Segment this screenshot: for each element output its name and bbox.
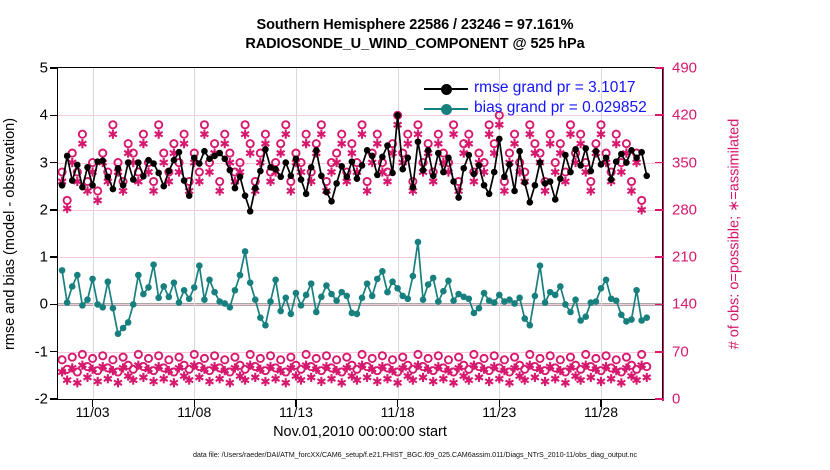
possible-obs-marker	[450, 121, 457, 128]
series-point	[389, 170, 396, 177]
series-point	[460, 165, 467, 172]
series-point	[298, 176, 305, 183]
y-axis-left-tick-label: -1	[8, 343, 48, 360]
possible-obs-marker	[338, 131, 345, 138]
series-point	[237, 272, 244, 279]
x-axis-tick-label: 11/28	[584, 404, 618, 420]
y-axis-right-tick	[655, 304, 663, 306]
y-axis-right-tick	[655, 209, 663, 211]
series-point	[308, 164, 315, 171]
series-point	[425, 281, 432, 288]
assimilated-marker	[317, 130, 325, 139]
possible-obs-marker	[491, 352, 498, 359]
assimilated-marker	[505, 378, 513, 387]
assimilated-marker	[206, 167, 214, 176]
series-point	[511, 300, 518, 307]
series-point	[364, 147, 371, 154]
series-point	[430, 173, 437, 180]
series-point	[313, 309, 320, 316]
assimilated-marker	[195, 373, 203, 382]
possible-obs-marker	[536, 355, 543, 362]
assimilated-marker	[63, 375, 71, 384]
possible-obs-marker	[597, 121, 604, 128]
series-point	[282, 159, 289, 166]
y-axis-left-tick	[50, 115, 57, 116]
series-point	[369, 293, 376, 300]
y-axis-right-tick-label: 210	[672, 249, 732, 266]
y-axis-right-tick-label: 420	[672, 107, 732, 124]
possible-obs-marker	[445, 356, 452, 363]
assimilated-marker	[282, 130, 290, 139]
possible-obs-marker	[414, 351, 421, 358]
possible-obs-marker	[160, 150, 167, 157]
series-point	[435, 298, 442, 305]
possible-obs-marker	[79, 351, 86, 358]
series-point	[623, 159, 630, 166]
series-point	[176, 149, 183, 156]
possible-obs-marker	[425, 355, 432, 362]
possible-obs-marker	[638, 197, 645, 204]
possible-obs-marker	[313, 140, 320, 147]
y-axis-left-tick	[50, 256, 57, 257]
possible-obs-marker	[628, 178, 635, 185]
series-point	[318, 294, 325, 301]
series-point	[593, 148, 600, 155]
possible-obs-marker	[221, 131, 228, 138]
assimilated-marker	[216, 374, 224, 383]
possible-obs-marker	[475, 150, 482, 157]
possible-obs-marker	[64, 197, 71, 204]
series-point	[171, 279, 178, 286]
series-point	[227, 304, 234, 311]
possible-obs-marker	[511, 354, 518, 361]
assimilated-marker	[170, 378, 178, 387]
x-axis-tick-label: 11/03	[76, 404, 110, 420]
series-point	[598, 161, 605, 168]
series-point	[471, 171, 478, 178]
series-point	[74, 272, 81, 279]
series-point	[374, 276, 381, 283]
assimilated-marker	[414, 130, 422, 139]
assimilated-marker	[78, 139, 86, 148]
possible-obs-marker	[69, 354, 76, 361]
possible-obs-marker	[486, 121, 493, 128]
possible-obs-marker	[343, 354, 350, 361]
series-point	[206, 277, 213, 284]
possible-obs-marker	[99, 352, 106, 359]
series-point	[288, 173, 295, 180]
series-point	[445, 277, 452, 284]
assimilated-marker	[587, 373, 595, 382]
series-point	[491, 299, 498, 306]
y-axis-left-tick-label: 5	[8, 60, 48, 77]
assimilated-marker	[73, 378, 81, 387]
possible-obs-marker	[211, 352, 218, 359]
series-point	[440, 169, 447, 176]
series-point	[130, 176, 137, 183]
assimilated-marker	[495, 374, 503, 383]
possible-obs-marker	[333, 356, 340, 363]
series-point	[64, 153, 71, 160]
series-point	[140, 291, 147, 298]
assimilated-marker	[328, 374, 336, 383]
series-point	[420, 296, 427, 303]
series-point	[547, 178, 554, 185]
chart-title: Southern Hemisphere 22586 / 23246 = 97.1…	[0, 16, 830, 54]
series-point	[410, 273, 417, 280]
series-point	[257, 168, 264, 175]
assimilated-marker	[150, 377, 158, 386]
series-point	[374, 172, 381, 179]
series-point	[399, 166, 406, 173]
legend-rmse-marker	[441, 84, 452, 95]
series-point	[105, 173, 112, 180]
series-point	[359, 295, 366, 302]
title-line-2: RADIOSONDE_U_WIND_COMPONENT @ 525 hPa	[0, 35, 830, 54]
series-point	[379, 268, 386, 275]
series-point	[125, 159, 132, 166]
series-point	[410, 184, 417, 191]
series-point	[430, 275, 437, 282]
x-axis-title: Nov.01,2010 00:00:00 start	[57, 424, 663, 440]
assimilated-marker	[63, 204, 71, 213]
y-axis-left-tick-label: 1	[8, 249, 48, 266]
series-point	[476, 305, 483, 312]
series-point	[160, 183, 167, 190]
possible-obs-marker	[272, 159, 279, 166]
series-point	[450, 178, 457, 185]
possible-obs-marker	[435, 352, 442, 359]
possible-obs-marker	[567, 354, 574, 361]
series-point	[389, 278, 396, 285]
assimilated-marker	[307, 373, 315, 382]
series-point	[415, 138, 422, 145]
assimilated-marker	[84, 373, 92, 382]
possible-obs-marker	[435, 131, 442, 138]
series-point	[491, 169, 498, 176]
series-point	[166, 168, 173, 175]
assimilated-marker	[363, 186, 371, 195]
possible-obs-marker	[247, 351, 254, 358]
assimilated-marker	[348, 149, 356, 158]
possible-obs-marker	[109, 121, 116, 128]
assimilated-marker	[246, 149, 254, 158]
series-point	[221, 155, 228, 162]
series-point	[257, 314, 264, 321]
series-point	[242, 248, 249, 255]
series-point	[120, 325, 127, 332]
possible-obs-marker	[526, 121, 533, 128]
series-point	[435, 150, 442, 157]
series-point	[455, 194, 462, 201]
possible-obs-marker	[150, 178, 157, 185]
series-point	[89, 276, 96, 283]
series-point	[110, 305, 117, 312]
series-point	[496, 136, 503, 143]
assimilated-marker	[628, 186, 636, 195]
possible-obs-marker	[323, 352, 330, 359]
possible-obs-marker	[89, 355, 96, 362]
possible-obs-marker	[196, 168, 203, 175]
series-point	[247, 279, 254, 286]
assimilated-marker	[587, 186, 595, 195]
assimilated-marker	[261, 377, 269, 386]
y-axis-left-tick-label: 2	[8, 201, 48, 218]
series-point	[552, 196, 559, 203]
series-point	[537, 262, 544, 269]
series-point	[557, 175, 564, 182]
series-point	[176, 299, 183, 306]
possible-obs-marker	[425, 140, 432, 147]
possible-obs-marker	[277, 140, 284, 147]
assimilated-marker	[612, 139, 620, 148]
series-point	[572, 146, 579, 153]
series-point	[404, 155, 411, 162]
series-point	[511, 188, 518, 195]
possible-obs-marker	[165, 356, 172, 363]
possible-obs-marker	[602, 352, 609, 359]
assimilated-marker	[597, 377, 605, 386]
assimilated-marker	[450, 130, 458, 139]
y-axis-right-tick	[655, 256, 663, 258]
possible-obs-marker	[226, 150, 233, 157]
series-point	[577, 162, 584, 169]
series-point	[196, 160, 203, 167]
series-point	[516, 295, 523, 302]
assimilated-marker	[597, 130, 605, 139]
series-point	[99, 157, 106, 164]
possible-obs-marker	[506, 150, 513, 157]
x-axis-tick-label: 11/18	[381, 404, 415, 420]
possible-obs-marker	[623, 354, 630, 361]
assimilated-marker	[383, 177, 391, 186]
series-point	[496, 292, 503, 299]
possible-obs-marker	[231, 354, 238, 361]
assimilated-marker	[287, 186, 295, 195]
possible-obs-marker	[557, 356, 564, 363]
y-axis-right-tick-label: 140	[672, 296, 732, 313]
possible-obs-marker	[282, 121, 289, 128]
possible-obs-marker	[470, 351, 477, 358]
series-point	[633, 287, 640, 294]
data-file-footer: data file: /Users/raeder/DAI/ATM_forcXX/…	[0, 450, 830, 459]
possible-obs-marker	[58, 356, 65, 363]
series-point	[105, 278, 112, 285]
assimilated-marker	[541, 186, 549, 195]
assimilated-marker	[617, 167, 625, 176]
possible-obs-marker	[547, 131, 554, 138]
possible-obs-marker	[414, 121, 421, 128]
assimilated-marker	[282, 378, 290, 387]
possible-obs-marker	[109, 356, 116, 363]
series-point	[79, 302, 86, 309]
possible-obs-marker	[216, 178, 223, 185]
series-point	[277, 173, 284, 180]
possible-obs-marker	[358, 351, 365, 358]
series-point	[201, 148, 208, 155]
series-point	[237, 173, 244, 180]
possible-obs-marker	[552, 159, 559, 166]
possible-obs-marker	[257, 355, 264, 362]
assimilated-marker	[139, 139, 147, 148]
possible-obs-marker	[526, 351, 533, 358]
series-point	[140, 173, 147, 180]
series-point	[227, 167, 234, 174]
series-point	[313, 147, 320, 154]
series-point	[567, 169, 574, 176]
series-point	[64, 299, 71, 306]
possible-obs-marker	[592, 140, 599, 147]
series-point	[216, 150, 223, 157]
assimilated-marker	[495, 120, 503, 129]
assimilated-marker	[328, 167, 336, 176]
series-point	[384, 289, 391, 296]
series-point	[359, 162, 366, 169]
series-point	[201, 296, 208, 303]
series-point	[333, 180, 340, 187]
possible-obs-marker	[201, 355, 208, 362]
series-point	[562, 152, 569, 159]
series-point	[593, 298, 600, 305]
series-point	[521, 179, 528, 186]
series-point	[425, 147, 432, 154]
legend-item-bias: bias grand pr = 0.029852	[418, 99, 663, 119]
series-point	[74, 162, 81, 169]
assimilated-marker	[439, 374, 447, 383]
y-axis-left-tick	[50, 162, 57, 163]
series-point	[323, 189, 330, 196]
possible-obs-marker	[267, 352, 274, 359]
y-axis-right-tick	[655, 162, 663, 164]
possible-obs-marker	[404, 131, 411, 138]
series-point	[252, 296, 259, 303]
series-point	[638, 149, 645, 156]
series-point	[349, 158, 356, 165]
assimilated-marker	[216, 186, 224, 195]
assimilated-marker	[394, 378, 402, 387]
y-axis-right-tick	[655, 351, 663, 353]
possible-obs-marker	[501, 356, 508, 363]
series-point	[532, 182, 539, 189]
possible-obs-marker	[79, 131, 86, 138]
assimilated-marker	[638, 205, 646, 214]
possible-obs-marker	[99, 150, 106, 157]
y-axis-right-tick	[655, 67, 663, 69]
assimilated-marker	[429, 377, 437, 386]
assimilated-marker	[241, 130, 249, 139]
series-point	[516, 148, 523, 155]
possible-obs-marker	[531, 140, 538, 147]
possible-obs-marker	[318, 121, 325, 128]
possible-obs-marker	[262, 131, 269, 138]
series-point	[603, 155, 610, 162]
y-axis-left-tick	[50, 398, 57, 399]
possible-obs-marker	[389, 356, 396, 363]
y-axis-right-tick-label: 0	[672, 391, 732, 408]
assimilated-marker	[200, 130, 208, 139]
assimilated-marker	[373, 139, 381, 148]
series-point	[481, 290, 488, 297]
x-axis-tick-label: 11/08	[177, 404, 211, 420]
possible-obs-marker	[287, 354, 294, 361]
possible-obs-marker	[242, 121, 249, 128]
assimilated-marker	[617, 378, 625, 387]
possible-obs-marker	[455, 354, 462, 361]
possible-obs-marker	[155, 352, 162, 359]
series-point	[603, 277, 610, 284]
y-axis-left-tick	[50, 209, 57, 210]
series-point	[384, 142, 391, 149]
assimilated-marker	[485, 130, 493, 139]
assimilated-marker	[272, 374, 280, 383]
possible-obs-marker	[170, 140, 177, 147]
series-point	[369, 153, 376, 160]
series-point	[643, 173, 650, 180]
y-axis-left-tick-label: 0	[8, 296, 48, 313]
possible-obs-marker	[369, 355, 376, 362]
series-point	[338, 163, 345, 170]
series-point	[59, 267, 66, 274]
assimilated-marker	[114, 378, 122, 387]
series-point	[333, 297, 340, 304]
possible-obs-marker	[94, 187, 101, 194]
assimilated-marker	[155, 130, 163, 139]
series-point	[99, 304, 106, 311]
assimilated-marker	[475, 373, 483, 382]
series-point	[394, 112, 401, 119]
assimilated-marker	[180, 139, 188, 148]
series-point	[247, 208, 254, 215]
series-point	[308, 280, 315, 287]
y-axis-left-tick	[50, 304, 57, 305]
assimilated-marker	[317, 377, 325, 386]
series-point	[364, 280, 371, 287]
assimilated-marker	[531, 373, 539, 382]
series-point	[84, 296, 91, 303]
assimilated-marker	[383, 374, 391, 383]
possible-obs-marker	[140, 131, 147, 138]
assimilated-marker	[139, 373, 147, 382]
series-point	[272, 166, 279, 173]
legend-bias-label: bias grand pr = 0.029852	[474, 99, 647, 117]
series-point	[323, 282, 330, 289]
possible-obs-marker	[465, 131, 472, 138]
series-point	[618, 151, 625, 158]
possible-obs-marker	[155, 121, 162, 128]
series-point	[643, 314, 650, 321]
assimilated-marker	[541, 377, 549, 386]
series-point	[186, 192, 193, 199]
series-point	[532, 293, 539, 300]
series-point	[115, 330, 122, 337]
series-point	[415, 239, 422, 246]
legend-rmse-label: rmse grand pr = 3.1017	[474, 79, 636, 97]
series-point	[155, 170, 162, 177]
series-point	[450, 297, 457, 304]
assimilated-marker	[338, 139, 346, 148]
assimilated-marker	[500, 186, 508, 195]
series-point	[598, 285, 605, 292]
series-point	[628, 147, 635, 154]
series-point	[440, 288, 447, 295]
series-point	[191, 284, 198, 291]
assimilated-marker	[546, 139, 554, 148]
series-point	[166, 294, 173, 301]
series-point	[125, 319, 132, 326]
assimilated-marker	[206, 377, 214, 386]
series-point	[267, 298, 274, 305]
series-point	[328, 291, 335, 298]
